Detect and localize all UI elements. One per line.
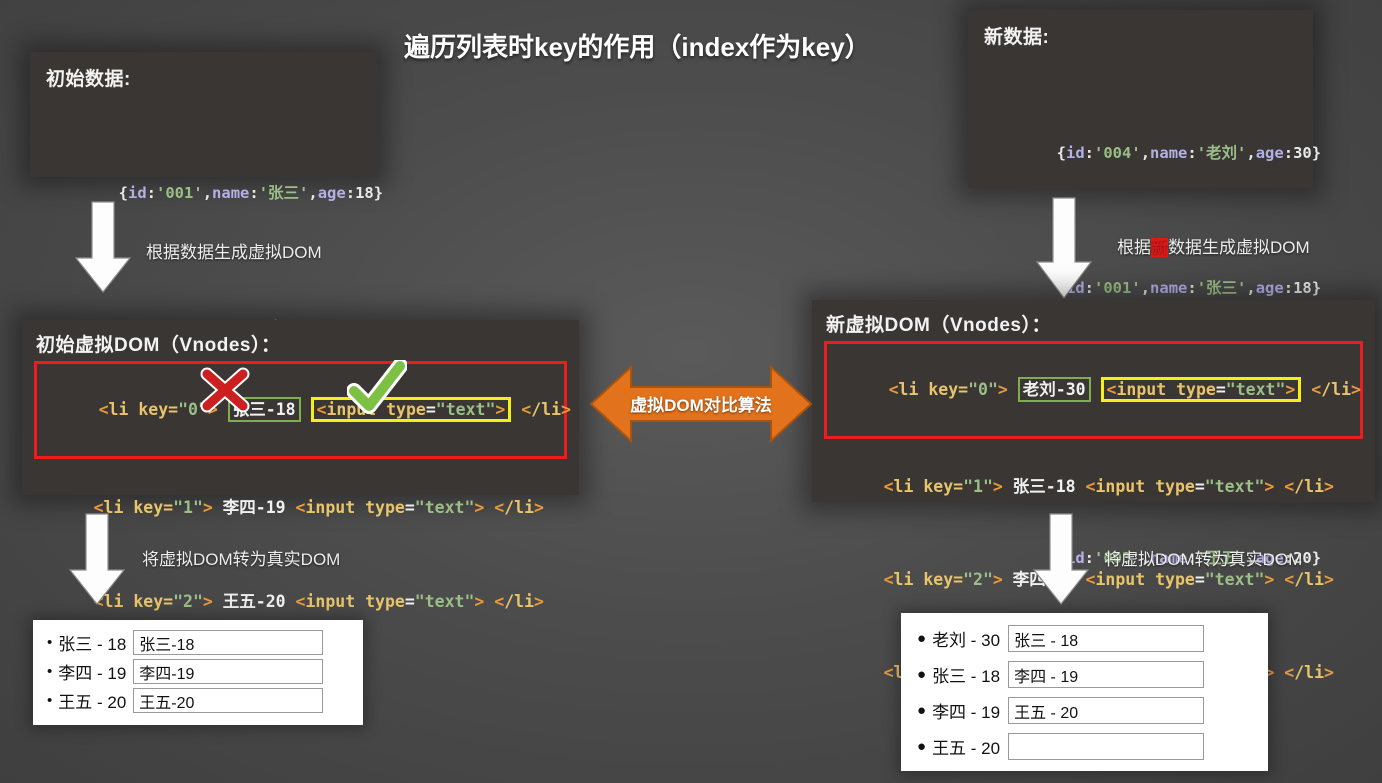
- text-input[interactable]: 张三 - 18: [1008, 625, 1204, 652]
- bullet-icon: ●: [917, 703, 926, 718]
- text-input[interactable]: 李四 - 19: [1008, 661, 1204, 688]
- diff-algorithm-label: 虚拟DOM对比算法: [614, 391, 788, 416]
- bullet-icon: ●: [917, 631, 926, 646]
- initial-vdom-heading: 初始虚拟DOM（Vnodes）：: [36, 330, 567, 357]
- vdom-input-token: <input type="text">: [311, 397, 512, 422]
- list-item-label: 王五 - 20: [58, 688, 126, 713]
- list-item: ● 老刘 - 30 张三 - 18: [915, 625, 1254, 652]
- text-input[interactable]: 李四-19: [133, 659, 323, 684]
- bullet-icon: ●: [917, 739, 926, 754]
- real-dom-list: • 张三 - 18 张三-18 • 李四 - 19 李四-19 • 王五 - 2…: [45, 630, 351, 713]
- arrow-right-generate-vdom: [1033, 196, 1095, 301]
- vdom-line-highlighted: <li key="0"> 老刘-30 <input type="text"> <…: [824, 341, 1363, 439]
- arrow-right-render-dom: [1030, 512, 1092, 607]
- text-input[interactable]: [1008, 733, 1204, 760]
- real-dom-list: ● 老刘 - 30 张三 - 18 ● 张三 - 18 李四 - 19 ● 李四…: [915, 625, 1254, 760]
- bullet-icon: •: [47, 635, 52, 650]
- list-item-label: 老刘 - 30: [932, 626, 1000, 651]
- new-data-panel: 新数据: {id:'004',name:'老刘',age:30} {id:'00…: [968, 10, 1313, 188]
- new-vdom-panel: 新虚拟DOM（Vnodes）： <li key="0"> 老刘-30 <inpu…: [812, 300, 1375, 502]
- caption-right-generate-highlight: 新: [1151, 238, 1168, 257]
- initial-real-dom-panel: • 张三 - 18 张三-18 • 李四 - 19 李四-19 • 王五 - 2…: [33, 620, 363, 725]
- new-data-heading: 新数据:: [984, 22, 1299, 49]
- vdom-line-highlighted: <li key="0"> 张三-18 <input type="text"> <…: [34, 361, 567, 459]
- list-item-label: 王五 - 20: [932, 734, 1000, 759]
- vdom-line: <li key="1"> 张三-18 <input type="text"> <…: [824, 442, 1363, 532]
- bullet-icon: •: [47, 693, 52, 708]
- list-item: ● 王五 - 20: [915, 733, 1254, 760]
- caption-right-generate: 根据新数据生成虚拟DOM: [1117, 233, 1310, 258]
- caption-left-generate: 根据数据生成虚拟DOM: [146, 238, 322, 263]
- initial-data-heading: 初始数据:: [46, 64, 364, 91]
- list-item: • 李四 - 19 李四-19: [45, 659, 351, 684]
- caption-right-render: 将虚拟DOM转为真实DOM: [1104, 545, 1302, 570]
- text-input[interactable]: 王五 - 20: [1008, 697, 1204, 724]
- new-real-dom-panel: ● 老刘 - 30 张三 - 18 ● 张三 - 18 李四 - 19 ● 李四…: [901, 613, 1268, 771]
- list-item-label: 张三 - 18: [58, 630, 126, 655]
- vdom-input-token: <input type="text">: [1101, 377, 1302, 402]
- initial-data-panel: 初始数据: {id:'001',name:'张三',age:18} {id:'0…: [30, 52, 378, 177]
- list-item: • 张三 - 18 张三-18: [45, 630, 351, 655]
- list-item-label: 李四 - 19: [932, 698, 1000, 723]
- vdom-text-token: 张三-18: [228, 397, 301, 422]
- arrow-left-render-dom: [66, 512, 128, 607]
- arrow-left-generate-vdom: [72, 200, 134, 295]
- list-item: • 王五 - 20 王五-20: [45, 688, 351, 713]
- page-title: 遍历列表时key的作用（index作为key）: [404, 27, 871, 64]
- diagram-canvas: 遍历列表时key的作用（index作为key） 初始数据: {id:'001',…: [0, 0, 1382, 783]
- caption-right-generate-pre: 根据: [1117, 238, 1151, 257]
- caption-right-generate-post: 数据生成虚拟DOM: [1168, 238, 1310, 257]
- list-item-label: 张三 - 18: [932, 662, 1000, 687]
- vdom-text-token: 老刘-30: [1018, 377, 1091, 402]
- text-input[interactable]: 张三-18: [133, 630, 323, 655]
- caption-left-render: 将虚拟DOM转为真实DOM: [142, 545, 340, 570]
- text-input[interactable]: 王五-20: [133, 688, 323, 713]
- new-vdom-heading: 新虚拟DOM（Vnodes）：: [826, 310, 1363, 337]
- initial-vdom-panel: 初始虚拟DOM（Vnodes）： <li key="0"> 张三-18 <inp…: [22, 320, 579, 495]
- data-row: {id:'004',name:'老刘',age:30}: [982, 113, 1299, 194]
- bullet-icon: •: [47, 664, 52, 679]
- bullet-icon: ●: [917, 667, 926, 682]
- list-item: ● 李四 - 19 王五 - 20: [915, 697, 1254, 724]
- list-item: ● 张三 - 18 李四 - 19: [915, 661, 1254, 688]
- list-item-label: 李四 - 19: [58, 659, 126, 684]
